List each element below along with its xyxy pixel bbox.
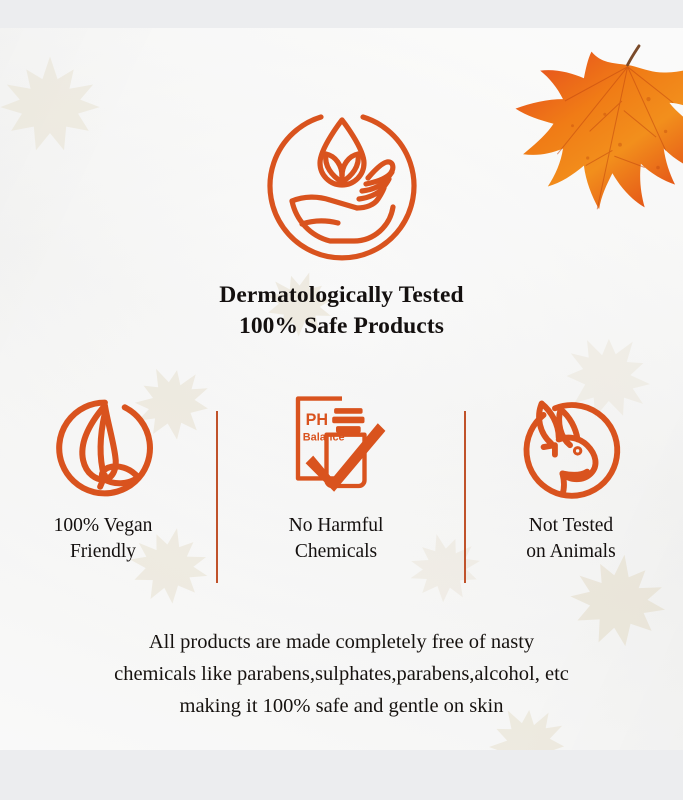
hero-title-line-1: Dermatologically Tested [0, 280, 683, 311]
rabbit-head-in-circle-icon [471, 383, 671, 513]
feature-animals-line-2: on Animals [471, 539, 671, 565]
feature-animals-line-1: Not Tested [471, 513, 671, 539]
footer-line-3: making it 100% safe and gentle on skin [0, 690, 683, 722]
feature-vegan-line-1: 100% Vegan [3, 513, 203, 539]
feature-label-chemicals: No Harmful Chemicals [236, 513, 436, 565]
footer-line-2: chemicals like parabens,sulphates,parabe… [0, 658, 683, 690]
feature-not-tested-on-animals: Not Tested on Animals [471, 383, 671, 565]
feature-label-vegan: 100% Vegan Friendly [3, 513, 203, 565]
feature-label-animals: Not Tested on Animals [471, 513, 671, 565]
footer-line-1: All products are made completely free of… [0, 626, 683, 658]
feature-divider-1 [216, 411, 218, 583]
footer-description: All products are made completely free of… [0, 626, 683, 722]
feature-vegan-friendly: 100% Vegan Friendly [3, 383, 203, 565]
feature-row: 100% Vegan Friendly PH Balance [0, 383, 683, 603]
feature-chemicals-line-1: No Harmful [236, 513, 436, 539]
hero-title-line-2: 100% Safe Products [0, 311, 683, 342]
feature-vegan-line-2: Friendly [3, 539, 203, 565]
hand-holding-leaf-droplet-icon [262, 104, 422, 264]
ph-balance-bottle-check-icon: PH Balance [236, 383, 436, 513]
feature-chemicals-line-2: Chemicals [236, 539, 436, 565]
leaf-in-circle-icon [3, 383, 203, 513]
ph-label-top: PH [306, 411, 328, 429]
hero-badge: Dermatologically Tested 100% Safe Produc… [0, 28, 683, 188]
feature-divider-2 [464, 411, 466, 583]
page-title: Dermatologically Tested 100% Safe Produc… [0, 280, 683, 342]
trust-badges-banner: Dermatologically Tested 100% Safe Produc… [0, 28, 683, 750]
feature-no-harmful-chemicals: PH Balance No Harm [236, 383, 436, 565]
